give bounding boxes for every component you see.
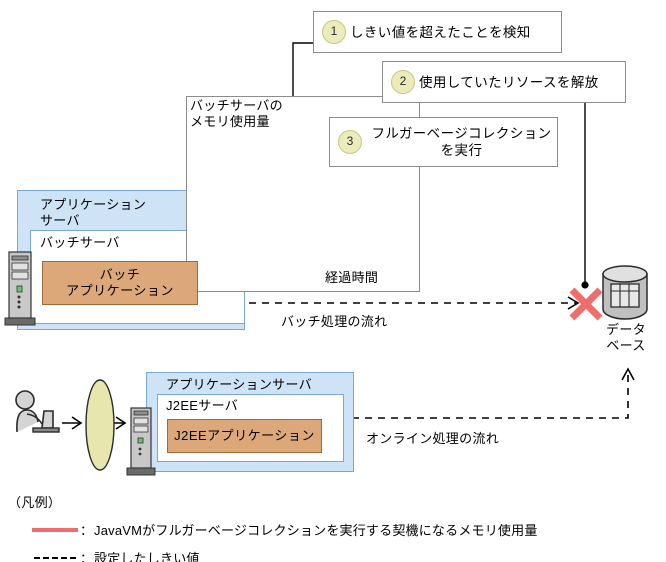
j2ee-server-label: J2EEサーバ — [166, 398, 238, 414]
server-tower-icon — [4, 250, 36, 328]
diagram-canvas: 1 しきい値を超えたことを検知 2 使用していたリソースを解放 3 フルガーベー… — [0, 0, 666, 562]
graph-y-axis-label: バッチサーバの メモリ使用量 — [190, 98, 283, 130]
callout-text-1: しきい値を超えたことを検知 — [350, 24, 531, 41]
red-x-icon — [572, 290, 600, 318]
j2ee-application-label: J2EEアプリケーション — [174, 428, 315, 444]
database-label: データ ベース — [592, 322, 660, 354]
legend-solid-red-line — [32, 524, 78, 536]
legend-colon: ： — [80, 548, 93, 562]
callout-text-2: 使用していたリソースを解放 — [419, 74, 599, 91]
batch-application-box[interactable]: バッチ アプリケーション — [42, 261, 198, 305]
network-cloud-oval-icon — [83, 378, 117, 472]
legend-item: ： JavaVMがフルガーベージコレクションを実行する契機になるメモリ使用量 — [8, 520, 538, 539]
callout-text-3: フルガーベージコレクション を実行 — [366, 125, 557, 159]
callout-number-3: 3 — [338, 130, 362, 154]
callout-box-3[interactable]: 3 フルガーベージコレクション を実行 — [329, 117, 558, 167]
callout-number-1: 1 — [322, 20, 346, 44]
person-at-laptop-icon — [8, 386, 64, 444]
legend-item-text: JavaVMがフルガーベージコレクションを実行する契機になるメモリ使用量 — [94, 520, 538, 539]
batch-flow-arrowhead — [568, 297, 578, 309]
online-flow-arrowhead — [622, 369, 634, 380]
server-tower-icon — [126, 406, 156, 478]
batch-flow-label: バッチ処理の流れ — [281, 311, 387, 330]
legend-dashed-black-line — [32, 552, 78, 562]
graph-x-axis-label: 経過時間 — [325, 267, 378, 286]
batch-application-label: バッチ アプリケーション — [66, 267, 174, 299]
legend-title: （凡例） — [8, 492, 538, 511]
callout-box-1[interactable]: 1 しきい値を超えたことを検知 — [313, 11, 562, 53]
online-application-server-label: アプリケーションサーバ — [166, 377, 312, 393]
batch-server-label: バッチサーバ — [40, 235, 120, 251]
online-flow-label: オンライン処理の流れ — [366, 428, 499, 447]
j2ee-application-box[interactable]: J2EEアプリケーション — [167, 419, 322, 453]
legend: （凡例） ： JavaVMがフルガーベージコレクションを実行する契機になるメモリ… — [8, 492, 538, 562]
batch-application-server-label: アプリケーション サーバ — [40, 197, 146, 229]
callout-box-2[interactable]: 2 使用していたリソースを解放 — [382, 61, 626, 103]
callout-number-2: 2 — [391, 70, 415, 94]
database-cylinder-icon — [600, 264, 652, 322]
callout2-endpoint-dot — [581, 281, 588, 288]
arrow-right-icon — [62, 417, 81, 429]
legend-colon: ： — [80, 520, 93, 539]
legend-item-text: 設定したしきい値 — [94, 548, 200, 562]
online-flow-dashed-line — [352, 372, 628, 418]
legend-item: ： 設定したしきい値 — [8, 548, 538, 562]
